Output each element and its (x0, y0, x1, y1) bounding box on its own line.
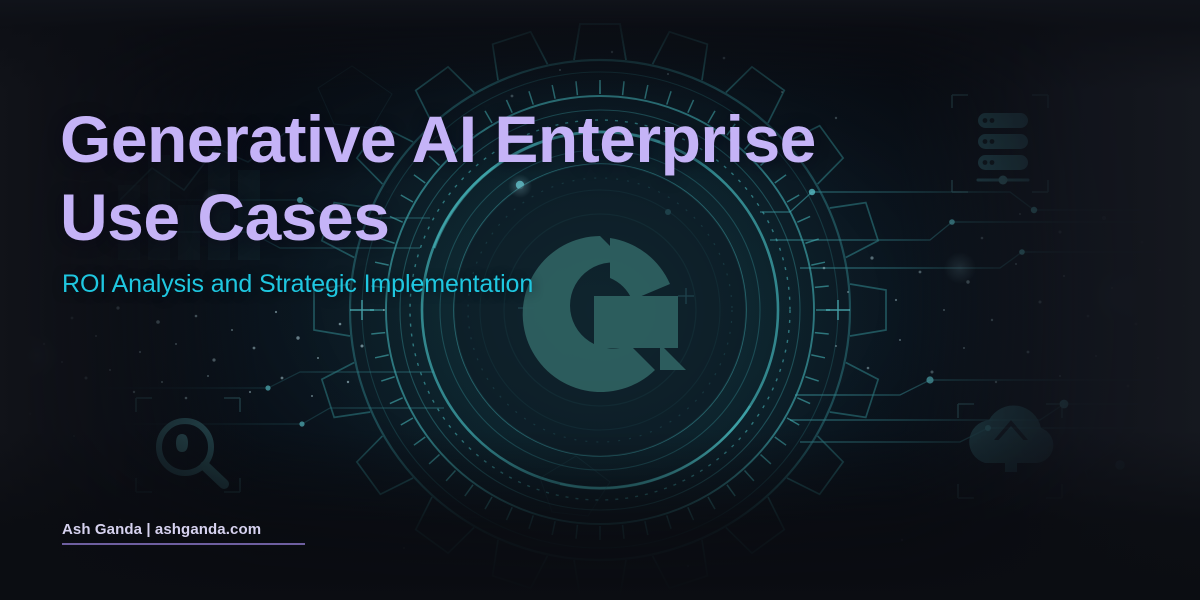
presentation-slide: Generative AI Enterprise Use Cases ROI A… (0, 0, 1200, 600)
footer-attribution: Ash Ganda | ashganda.com (62, 521, 305, 545)
footer-attribution-text[interactable]: Ash Ganda | ashganda.com (62, 521, 305, 538)
slide-subtitle: ROI Analysis and Strategic Implementatio… (62, 270, 533, 299)
slide-title: Generative AI Enterprise Use Cases (60, 100, 880, 256)
top-edge-fade (0, 0, 1200, 90)
bottom-edge-fade (0, 430, 1200, 600)
footer-underline (62, 543, 305, 545)
